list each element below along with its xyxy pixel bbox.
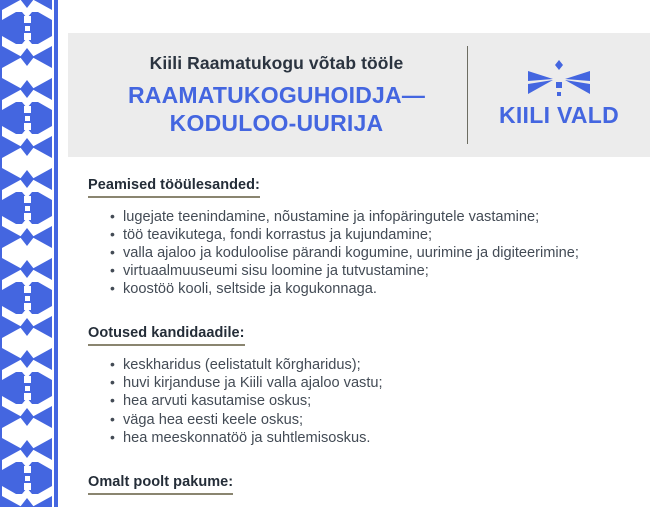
job-title-line-1: RAAMATUKOGUHOIDJA— — [86, 81, 467, 109]
section-offer: Omalt poolt pakume: — [88, 473, 623, 495]
estonian-folk-pattern-band — [0, 0, 58, 507]
list-item: keskharidus (eelistatult kõrgharidus); — [110, 357, 623, 374]
logo-wordmark: KIILI VALD — [499, 102, 619, 129]
header-banner: Kiili Raamatukogu võtab tööle RAAMATUKOG… — [68, 33, 650, 157]
tasks-list: lugejate teenindamine, nõustamine ja inf… — [88, 209, 623, 298]
list-item: koostöö kooli, seltside ja kogukonnaga. — [110, 281, 623, 298]
section-expectations: Ootused kandidaadile: keskharidus (eelis… — [88, 324, 623, 446]
job-ad-content: Peamised tööülesanded: lugejate teeninda… — [88, 176, 623, 495]
list-item: lugejate teenindamine, nõustamine ja inf… — [110, 209, 623, 226]
dragonfly-icon — [526, 60, 592, 100]
list-item: töö teavikutega, fondi korrastus ja kuju… — [110, 227, 623, 244]
list-item: huvi kirjanduse ja Kiili valla ajaloo va… — [110, 375, 623, 392]
list-item: hea arvuti kasutamise oskus; — [110, 393, 623, 410]
section-tasks-heading: Peamised tööülesanded: — [88, 177, 260, 198]
header-text-block: Kiili Raamatukogu võtab tööle RAAMATUKOG… — [68, 53, 467, 137]
list-item: virtuaalmuuseumi sisu loomine ja tutvust… — [110, 263, 623, 280]
expectations-list: keskharidus (eelistatult kõrgharidus); h… — [88, 357, 623, 446]
section-tasks: Peamised tööülesanded: lugejate teeninda… — [88, 176, 623, 298]
header-kicker: Kiili Raamatukogu võtab tööle — [86, 53, 467, 74]
section-expectations-heading: Ootused kandidaadile: — [88, 325, 245, 346]
list-item: väga hea eesti keele oskus; — [110, 412, 623, 429]
kiili-vald-logo: KIILI VALD — [468, 60, 650, 131]
list-item: valla ajaloo ja koduloolise pärandi kogu… — [110, 245, 623, 262]
list-item: hea meeskonnatöö ja suhtlemisoskus. — [110, 430, 623, 447]
page-title: RAAMATUKOGUHOIDJA— KODULOO-UURIJA — [86, 81, 467, 137]
job-title-line-2: KODULOO-UURIJA — [86, 109, 467, 137]
section-offer-heading: Omalt poolt pakume: — [88, 474, 233, 495]
